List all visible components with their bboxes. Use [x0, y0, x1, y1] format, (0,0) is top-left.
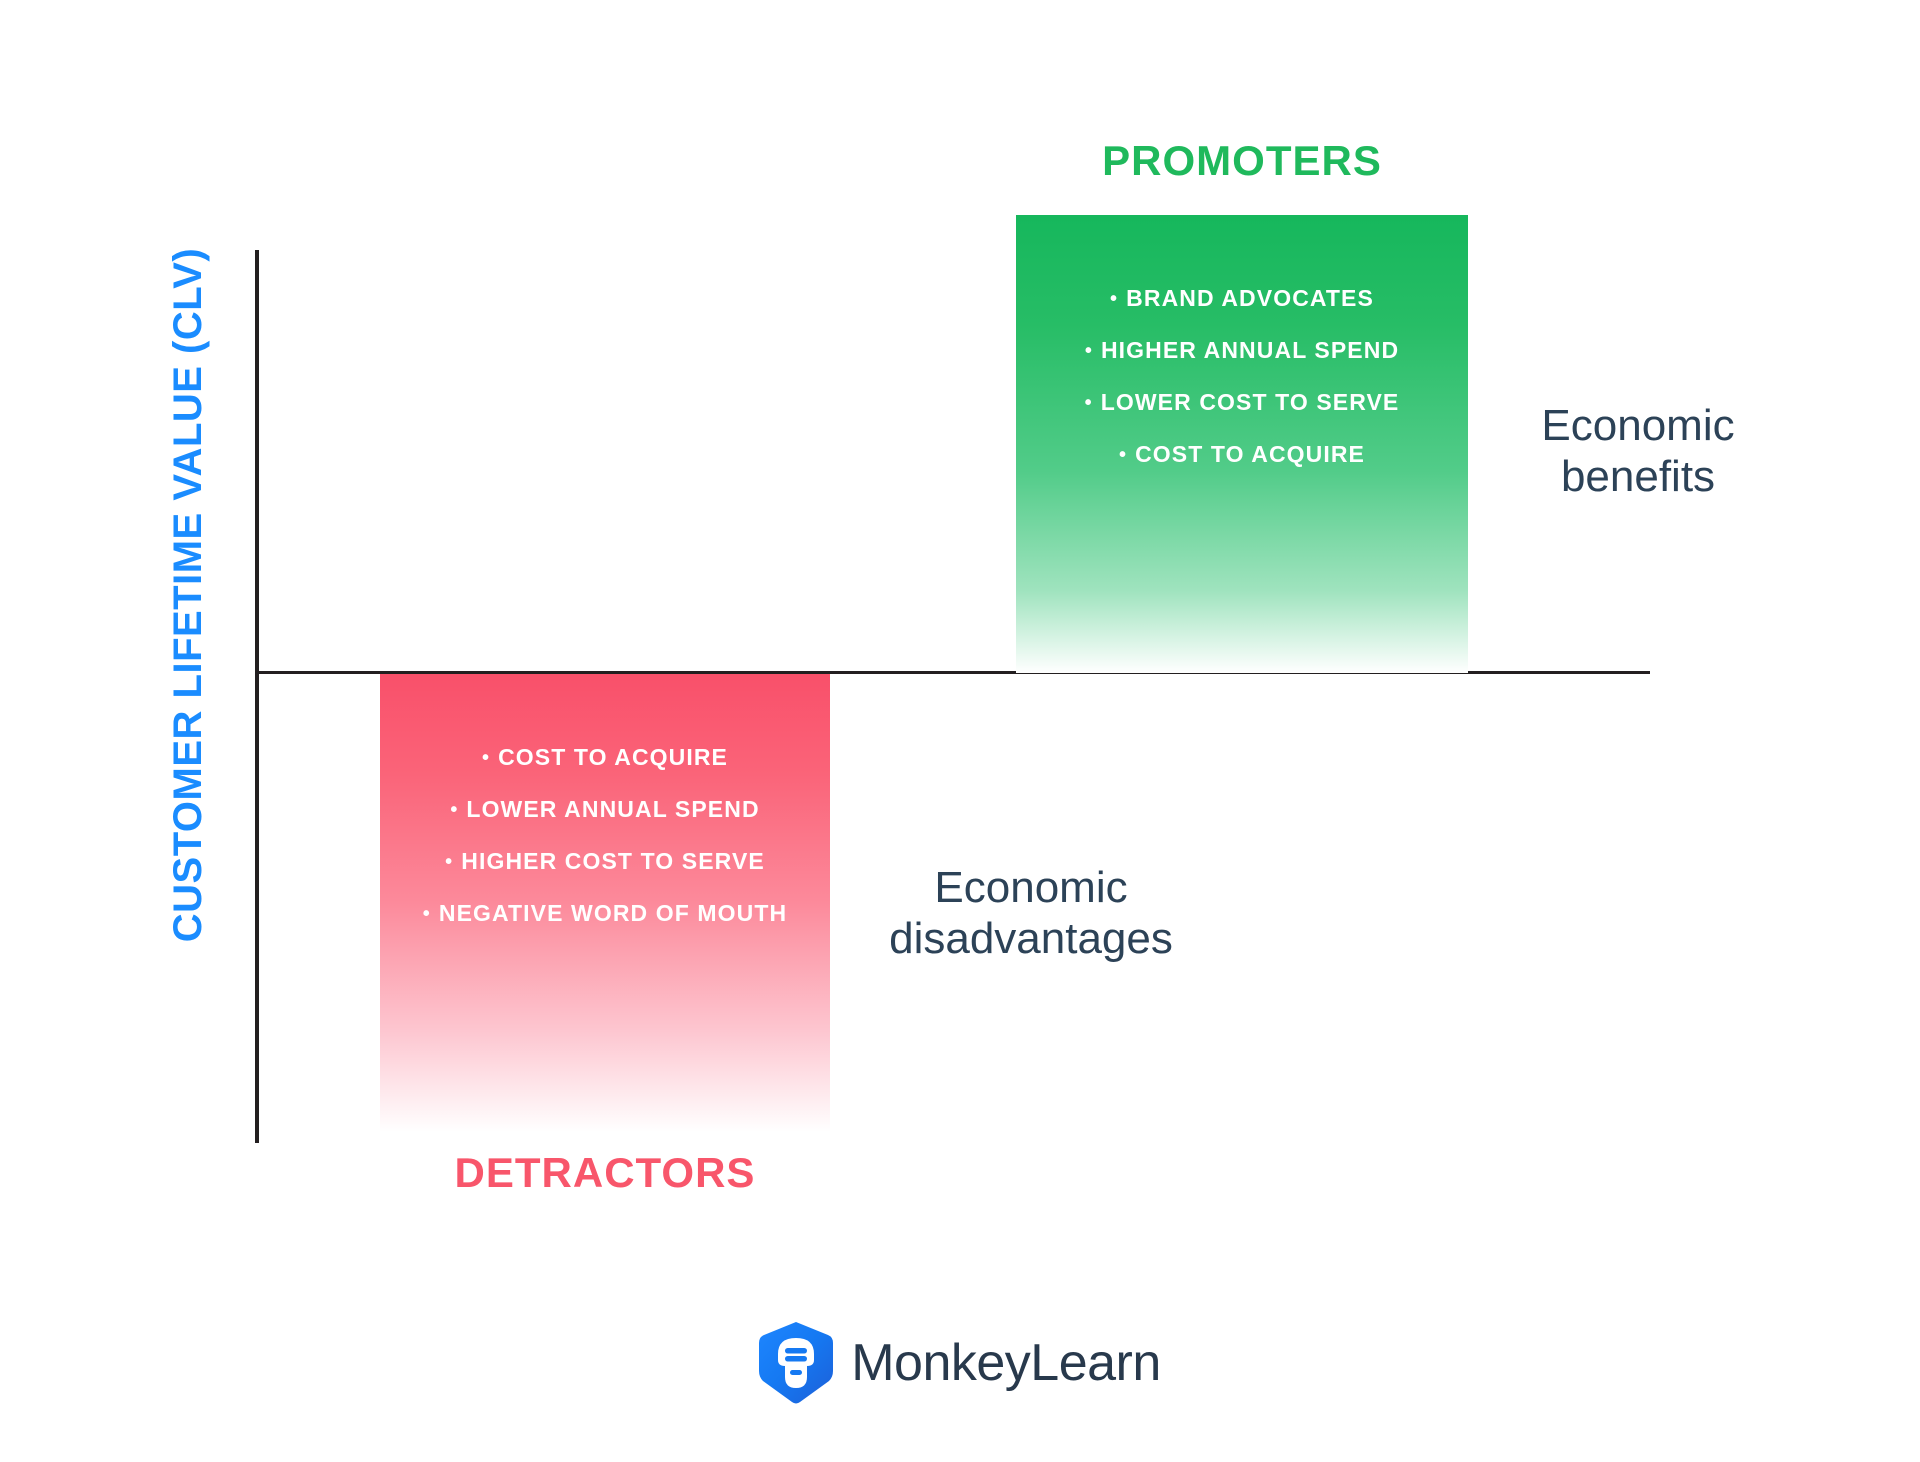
bullet-icon: • [423, 904, 431, 924]
list-item-label: COST TO ACQUIRE [1135, 441, 1365, 467]
bullet-icon: • [1085, 341, 1093, 361]
economic-disadvantages-line-1: Economic [826, 862, 1236, 913]
brand-footer: MonkeyLearn [0, 1322, 1920, 1404]
detractors-title: DETRACTORS [380, 1152, 830, 1194]
economic-disadvantages-annotation: Economic disadvantages [826, 862, 1236, 964]
detractors-item-list: •COST TO ACQUIRE •LOWER ANNUAL SPEND •HI… [380, 746, 830, 954]
economic-benefits-line-2: benefits [1478, 451, 1798, 502]
bullet-icon: • [482, 748, 490, 768]
list-item: •NEGATIVE WORD OF MOUTH [380, 902, 830, 925]
list-item: •HIGHER COST TO SERVE [380, 850, 830, 873]
list-item: •HIGHER ANNUAL SPEND [1016, 339, 1468, 362]
list-item-label: NEGATIVE WORD OF MOUTH [439, 900, 787, 926]
promoters-quadrant-box: •BRAND ADVOCATES •HIGHER ANNUAL SPEND •L… [1016, 215, 1468, 673]
y-axis-label: CUSTOMER LIFETIME VALUE (CLV) [168, 165, 208, 1025]
promoters-item-list: •BRAND ADVOCATES •HIGHER ANNUAL SPEND •L… [1016, 287, 1468, 495]
list-item-label: BRAND ADVOCATES [1126, 285, 1374, 311]
bullet-icon: • [1085, 393, 1093, 413]
chart-canvas: CUSTOMER LIFETIME VALUE (CLV) PROMOTERS … [0, 0, 1920, 1462]
economic-benefits-annotation: Economic benefits [1478, 400, 1798, 502]
bullet-icon: • [1119, 445, 1127, 465]
bullet-icon: • [1110, 289, 1118, 309]
brand-name: MonkeyLearn [851, 1337, 1161, 1389]
list-item-label: HIGHER COST TO SERVE [461, 848, 765, 874]
list-item: •BRAND ADVOCATES [1016, 287, 1468, 310]
detractors-quadrant-box: •COST TO ACQUIRE •LOWER ANNUAL SPEND •HI… [380, 674, 830, 1132]
list-item-label: LOWER COST TO SERVE [1101, 389, 1400, 415]
list-item: •LOWER COST TO SERVE [1016, 391, 1468, 414]
y-axis-line [255, 250, 259, 1143]
list-item: •COST TO ACQUIRE [380, 746, 830, 769]
economic-benefits-line-1: Economic [1478, 400, 1798, 451]
list-item-label: HIGHER ANNUAL SPEND [1101, 337, 1399, 363]
list-item-label: LOWER ANNUAL SPEND [466, 796, 759, 822]
list-item: •COST TO ACQUIRE [1016, 443, 1468, 466]
economic-disadvantages-line-2: disadvantages [826, 913, 1236, 964]
bullet-icon: • [445, 852, 453, 872]
promoters-title: PROMOTERS [1016, 140, 1468, 182]
list-item-label: COST TO ACQUIRE [498, 744, 728, 770]
list-item: •LOWER ANNUAL SPEND [380, 798, 830, 821]
bullet-icon: • [450, 800, 458, 820]
monkeylearn-logo-icon [759, 1322, 833, 1404]
